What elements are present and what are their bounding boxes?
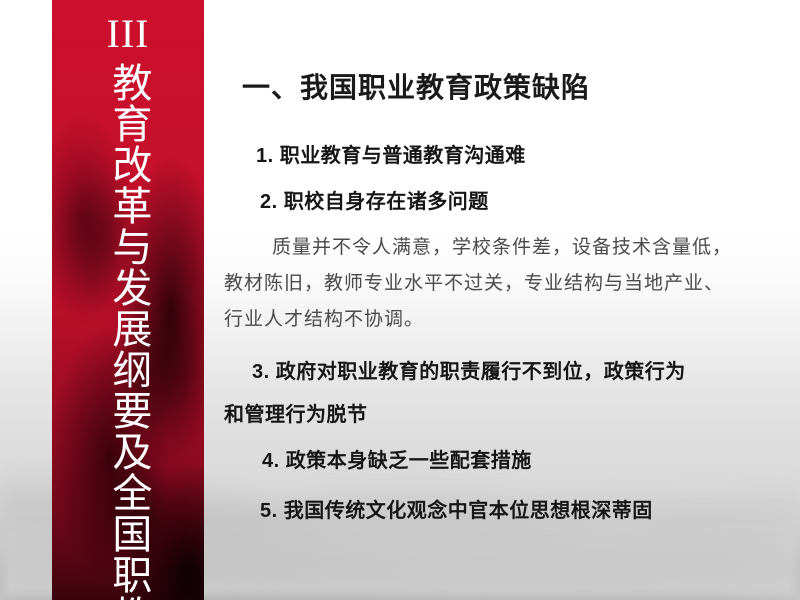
banner-vertical-title-wrap: 教育改革与发展纲要及全国职教作会 xyxy=(52,62,204,594)
list-item-1: 1. 职业教育与普通教育沟通难 xyxy=(256,139,526,168)
paragraph-line-3: 行业人才结构不协调。 xyxy=(224,302,790,338)
paragraph-line-1: 质量并不令人满意，学校条件差，设备技术含量低， xyxy=(224,230,790,266)
list-item-2: 2. 职校自身存在诸多问题 xyxy=(260,185,489,214)
list-item-3-continuation: 和管理行为脱节 xyxy=(224,398,368,427)
list-item-3: 3. 政府对职业教育的职责履行不到位，政策行为 xyxy=(252,355,686,384)
red-side-banner: III 教育改革与发展纲要及全国职教作会 xyxy=(52,0,204,600)
banner-vertical-title: 教育改革与发展纲要及全国职教作会 xyxy=(108,62,149,594)
presentation-slide: III 教育改革与发展纲要及全国职教作会 一、我国职业教育政策缺陷 1. 职业教… xyxy=(0,0,800,600)
list-item-5: 5. 我国传统文化观念中官本位思想根深蒂固 xyxy=(260,494,653,523)
detail-paragraph: 质量并不令人满意，学校条件差，设备技术含量低， 教材陈旧，教师专业水平不过关，专… xyxy=(224,230,790,338)
section-number: III xyxy=(52,14,204,54)
slide-content: 一、我国职业教育政策缺陷 1. 职业教育与普通教育沟通难 2. 职校自身存在诸多… xyxy=(204,0,800,600)
page-title: 一、我国职业教育政策缺陷 xyxy=(242,66,590,106)
paragraph-line-2: 教材陈旧，教师专业水平不过关，专业结构与当地产业、 xyxy=(224,266,790,302)
list-item-4: 4. 政策本身缺乏一些配套措施 xyxy=(262,444,532,473)
